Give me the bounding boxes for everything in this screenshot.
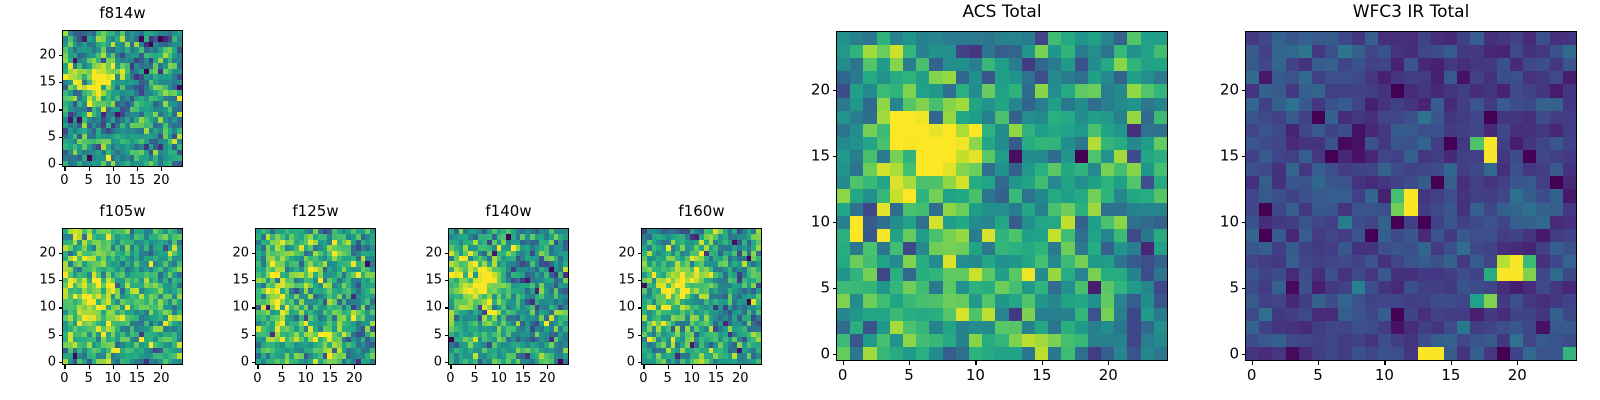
ytick-label-acs-total-20: 20	[788, 83, 830, 98]
heatmap-cell	[877, 111, 890, 124]
heatmap-cell	[863, 189, 876, 202]
xtick-label-f140w-15: 15	[515, 372, 532, 385]
heatmap-cell	[1431, 229, 1444, 242]
heatmap-cell	[1022, 321, 1035, 334]
heatmap-cell	[1075, 176, 1088, 189]
heatmap-cell	[956, 137, 969, 150]
heatmap-cell	[916, 281, 929, 294]
heatmap-cell	[1338, 255, 1351, 268]
heatmap-cell	[1088, 242, 1101, 255]
heatmap-cell	[1457, 347, 1470, 360]
heatmap-cell	[1378, 163, 1391, 176]
heatmap-cell	[1457, 98, 1470, 111]
heatmap-cell	[1536, 176, 1549, 189]
heatmap-cell	[1141, 203, 1154, 216]
xtick-mark	[257, 365, 258, 369]
heatmap-cell	[1352, 71, 1365, 84]
ytick-label-f814w-15: 15	[14, 76, 56, 89]
heatmap-cell	[1048, 32, 1061, 45]
heatmap-cell	[1127, 281, 1140, 294]
heatmap-cell	[982, 216, 995, 229]
heatmap-cell	[903, 347, 916, 360]
heatmap-cell	[1510, 45, 1523, 58]
heatmap-cell	[1035, 347, 1048, 360]
heatmap-cell	[916, 98, 929, 111]
heatmap-cell	[1061, 203, 1074, 216]
heatmap-cell	[1378, 268, 1391, 281]
heatmap-cell	[1497, 98, 1510, 111]
heatmap-cell	[1022, 242, 1035, 255]
heatmap-cell	[1075, 189, 1088, 202]
heatmap-cell	[1141, 308, 1154, 321]
heatmap-cell	[1088, 308, 1101, 321]
heatmap-cell	[1127, 229, 1140, 242]
heatmap-cell	[995, 32, 1008, 45]
heatmap-cell	[1048, 98, 1061, 111]
heatmap-cell	[1536, 58, 1549, 71]
heatmap-cell	[1444, 98, 1457, 111]
heatmap-cell	[1470, 98, 1483, 111]
heatmap-cell	[1088, 137, 1101, 150]
heatmap-cell	[943, 242, 956, 255]
heatmap-cell	[1246, 150, 1259, 163]
heatmap-cell	[1497, 229, 1510, 242]
heatmap-cell	[1536, 281, 1549, 294]
panel-wfc3-ir-total: WFC3 IR Total0510152005101520	[0, 0, 1600, 400]
heatmap-cell	[1510, 163, 1523, 176]
heatmap-cell	[1246, 124, 1259, 137]
heatmap-cell	[1048, 124, 1061, 137]
heatmap-cell	[837, 321, 850, 334]
heatmap-cell	[1536, 45, 1549, 58]
heatmap-cell	[956, 124, 969, 137]
xtick-label-acs-total-15: 15	[1032, 368, 1051, 383]
heatmap-cell	[969, 163, 982, 176]
heatmap-cell	[1457, 203, 1470, 216]
heatmap-cell	[850, 176, 863, 189]
heatmap-cell	[1484, 45, 1497, 58]
heatmap-cell	[1299, 84, 1312, 97]
heatmap-cell	[1404, 32, 1417, 45]
heatmap-cell	[1022, 45, 1035, 58]
heatmap-cell	[1338, 45, 1351, 58]
heatmap-cell	[1101, 150, 1114, 163]
heatmap-cell	[1022, 137, 1035, 150]
heatmap-cell	[1536, 203, 1549, 216]
heatmap-cell	[1075, 203, 1088, 216]
ytick-label-f105w-20: 20	[14, 246, 56, 259]
xtick-mark	[843, 361, 844, 365]
heatmap-cell	[1391, 334, 1404, 347]
heatmap-cell	[863, 268, 876, 281]
heatmap-cell	[1404, 242, 1417, 255]
heatmap-cell	[956, 163, 969, 176]
heatmap-cell	[1444, 32, 1457, 45]
heatmap-cell	[1088, 216, 1101, 229]
heatmap-cell	[1114, 242, 1127, 255]
xtick-mark	[692, 365, 693, 369]
heatmap-cell	[929, 111, 942, 124]
heatmap-image-wfc3-ir-total	[1246, 32, 1576, 360]
heatmap-cell	[1418, 163, 1431, 176]
heatmap-cell	[1101, 163, 1114, 176]
heatmap-cell	[969, 268, 982, 281]
heatmap-cell	[1444, 268, 1457, 281]
heatmap-cell	[929, 137, 942, 150]
heatmap-cell	[1484, 124, 1497, 137]
heatmap-cell	[1088, 321, 1101, 334]
xtick-mark	[306, 365, 307, 369]
heatmap-cell	[1312, 255, 1325, 268]
heatmap-cell	[982, 203, 995, 216]
heatmap-cell	[1378, 242, 1391, 255]
heatmap-cell	[177, 161, 182, 166]
heatmap-cell	[1272, 281, 1285, 294]
ytick-label-f125w-0: 0	[207, 356, 249, 369]
heatmap-cell	[995, 58, 1008, 71]
heatmap-cell	[837, 84, 850, 97]
xtick-mark	[1252, 361, 1253, 365]
heatmap-cell	[995, 163, 1008, 176]
heatmap-cell	[1338, 32, 1351, 45]
heatmap-cell	[1404, 98, 1417, 111]
panel-title-f105w: f105w	[62, 204, 183, 219]
heatmap-cell	[1009, 71, 1022, 84]
heatmap-cell	[1470, 334, 1483, 347]
heatmap-cell	[1259, 111, 1272, 124]
heatmap-cell	[1365, 255, 1378, 268]
heatmap-cell	[1088, 176, 1101, 189]
heatmap-cell	[916, 229, 929, 242]
heatmap-cell	[1286, 203, 1299, 216]
heatmap-cell	[982, 308, 995, 321]
heatmap-cell	[1009, 216, 1022, 229]
heatmap-cell	[1022, 84, 1035, 97]
heatmap-cell	[1312, 45, 1325, 58]
heatmap-cell	[877, 203, 890, 216]
ytick-label-wfc3-ir-total-5: 5	[1197, 281, 1239, 296]
heatmap-cell	[1246, 189, 1259, 202]
heatmap-cell	[1470, 150, 1483, 163]
heatmap-cell	[1391, 189, 1404, 202]
heatmap-cell	[1404, 321, 1417, 334]
heatmap-cell	[1523, 281, 1536, 294]
heatmap-cell	[1312, 281, 1325, 294]
heatmap-cell	[1563, 203, 1576, 216]
ytick-label-f105w-5: 5	[14, 328, 56, 341]
heatmap-cell	[1563, 189, 1576, 202]
heatmap-cell	[1022, 189, 1035, 202]
heatmap-axes-f160w[interactable]	[641, 228, 762, 365]
heatmap-cell	[1378, 58, 1391, 71]
heatmap-cell	[1431, 124, 1444, 137]
heatmap-cell	[956, 32, 969, 45]
heatmap-cell	[1154, 268, 1167, 281]
heatmap-cell	[956, 308, 969, 321]
heatmap-cell	[1075, 84, 1088, 97]
heatmap-cell	[1510, 111, 1523, 124]
heatmap-cell	[929, 124, 942, 137]
heatmap-cell	[1299, 189, 1312, 202]
heatmap-cell	[943, 32, 956, 45]
heatmap-cell	[1035, 321, 1048, 334]
heatmap-cell	[1431, 58, 1444, 71]
heatmap-cell	[1550, 189, 1563, 202]
heatmap-cell	[1418, 189, 1431, 202]
heatmap-cell	[1352, 32, 1365, 45]
xtick-label-acs-total-20: 20	[1099, 368, 1118, 383]
heatmap-cell	[1404, 163, 1417, 176]
heatmap-cell	[1391, 163, 1404, 176]
heatmap-cell	[850, 308, 863, 321]
heatmap-cell	[929, 268, 942, 281]
heatmap-cell	[1352, 308, 1365, 321]
xtick-mark	[89, 167, 90, 171]
heatmap-cell	[995, 203, 1008, 216]
heatmap-cell	[850, 124, 863, 137]
heatmap-cell	[903, 242, 916, 255]
heatmap-cell	[1365, 268, 1378, 281]
heatmap-cell	[956, 176, 969, 189]
heatmap-cell	[1101, 45, 1114, 58]
heatmap-cell	[1061, 150, 1074, 163]
heatmap-cell	[1497, 189, 1510, 202]
heatmap-cell	[1259, 294, 1272, 307]
panel-title-f814w: f814w	[62, 6, 183, 21]
heatmap-cell	[877, 137, 890, 150]
heatmap-cell	[995, 308, 1008, 321]
heatmap-cell	[837, 150, 850, 163]
heatmap-cell	[1391, 84, 1404, 97]
heatmap-axes-f140w[interactable]	[448, 228, 569, 365]
heatmap-cell	[1550, 124, 1563, 137]
heatmap-cell	[890, 308, 903, 321]
heatmap-cell	[1338, 216, 1351, 229]
heatmap-cell	[1484, 58, 1497, 71]
heatmap-cell	[1510, 203, 1523, 216]
heatmap-cell	[1391, 124, 1404, 137]
heatmap-cell	[903, 150, 916, 163]
heatmap-cell	[1035, 32, 1048, 45]
heatmap-cell	[877, 255, 890, 268]
heatmap-cell	[1497, 216, 1510, 229]
heatmap-cell	[1246, 176, 1259, 189]
heatmap-cell	[837, 163, 850, 176]
heatmap-cell	[1431, 255, 1444, 268]
heatmap-cell	[1246, 268, 1259, 281]
heatmap-cell	[850, 189, 863, 202]
heatmap-cell	[916, 111, 929, 124]
heatmap-cell	[1259, 321, 1272, 334]
ytick-label-f125w-5: 5	[207, 328, 249, 341]
heatmap-cell	[863, 308, 876, 321]
heatmap-cell	[1470, 189, 1483, 202]
heatmap-cell	[995, 98, 1008, 111]
heatmap-cell	[1457, 84, 1470, 97]
heatmap-cell	[1048, 216, 1061, 229]
heatmap-cell	[863, 124, 876, 137]
heatmap-cell	[1536, 150, 1549, 163]
heatmap-cell	[1061, 281, 1074, 294]
heatmap-cell	[943, 71, 956, 84]
heatmap-cell	[1378, 176, 1391, 189]
heatmap-cell	[1088, 294, 1101, 307]
heatmap-cell	[1325, 294, 1338, 307]
heatmap-cell	[1418, 216, 1431, 229]
heatmap-cell	[929, 32, 942, 45]
heatmap-cell	[1325, 229, 1338, 242]
heatmap-cell	[1550, 216, 1563, 229]
heatmap-cell	[982, 45, 995, 58]
heatmap-axes-wfc3-ir-total[interactable]	[1245, 31, 1577, 361]
heatmap-cell	[956, 321, 969, 334]
heatmap-cell	[1009, 255, 1022, 268]
heatmap-cell	[1114, 124, 1127, 137]
heatmap-cell	[903, 124, 916, 137]
heatmap-cell	[956, 334, 969, 347]
heatmap-cell	[995, 242, 1008, 255]
heatmap-cell	[1523, 334, 1536, 347]
heatmap-cell	[863, 111, 876, 124]
heatmap-cell	[943, 45, 956, 58]
heatmap-cell	[1154, 150, 1167, 163]
heatmap-cell	[903, 71, 916, 84]
heatmap-cell	[1404, 268, 1417, 281]
heatmap-cell	[1536, 255, 1549, 268]
heatmap-cell	[1114, 58, 1127, 71]
heatmap-cell	[1563, 137, 1576, 150]
heatmap-cell	[1510, 255, 1523, 268]
heatmap-cell	[1061, 32, 1074, 45]
heatmap-cell	[1457, 137, 1470, 150]
heatmap-cell	[903, 321, 916, 334]
heatmap-cell	[1365, 347, 1378, 360]
heatmap-cell	[903, 189, 916, 202]
heatmap-cell	[1114, 334, 1127, 347]
xtick-label-f105w-10: 10	[105, 372, 122, 385]
heatmap-cell	[1009, 45, 1022, 58]
heatmap-cell	[850, 242, 863, 255]
heatmap-cell	[1352, 84, 1365, 97]
heatmap-cell	[1536, 242, 1549, 255]
heatmap-cell	[1259, 216, 1272, 229]
heatmap-cell	[1141, 189, 1154, 202]
heatmap-cell	[1299, 137, 1312, 150]
heatmap-cell	[1325, 203, 1338, 216]
ytick-label-f140w-15: 15	[400, 274, 442, 287]
heatmap-cell	[903, 294, 916, 307]
heatmap-cell	[1470, 321, 1483, 334]
heatmap-cell	[1009, 124, 1022, 137]
heatmap-cell	[1431, 216, 1444, 229]
heatmap-cell	[890, 268, 903, 281]
heatmap-axes-f105w[interactable]	[62, 228, 183, 365]
heatmap-cell	[1048, 308, 1061, 321]
ytick-label-f140w-10: 10	[400, 301, 442, 314]
heatmap-cell	[890, 189, 903, 202]
heatmap-cell	[1457, 216, 1470, 229]
heatmap-cell	[1338, 242, 1351, 255]
heatmap-cell	[1418, 71, 1431, 84]
ytick-label-f814w-5: 5	[14, 130, 56, 143]
heatmap-cell	[1088, 163, 1101, 176]
heatmap-cell	[1418, 58, 1431, 71]
heatmap-cell	[1484, 281, 1497, 294]
heatmap-cell	[850, 58, 863, 71]
heatmap-cell	[1444, 71, 1457, 84]
heatmap-cell	[1365, 321, 1378, 334]
heatmap-cell	[1484, 98, 1497, 111]
heatmap-cell	[1127, 32, 1140, 45]
heatmap-cell	[1272, 137, 1285, 150]
heatmap-cell	[863, 176, 876, 189]
heatmap-cell	[1497, 347, 1510, 360]
heatmap-cell	[1391, 32, 1404, 45]
heatmap-cell	[1272, 150, 1285, 163]
heatmap-axes-f125w[interactable]	[255, 228, 376, 365]
heatmap-cell	[1484, 189, 1497, 202]
heatmap-cell	[1259, 150, 1272, 163]
xtick-label-f125w-10: 10	[298, 372, 315, 385]
heatmap-cell	[1286, 124, 1299, 137]
heatmap-cell	[1088, 124, 1101, 137]
heatmap-cell	[903, 176, 916, 189]
heatmap-cell	[1272, 32, 1285, 45]
heatmap-cell	[1101, 242, 1114, 255]
heatmap-axes-acs-total[interactable]	[836, 31, 1168, 361]
heatmap-cell	[850, 268, 863, 281]
heatmap-cell	[1325, 216, 1338, 229]
heatmap-cell	[1418, 334, 1431, 347]
heatmap-cell	[1484, 203, 1497, 216]
heatmap-cell	[1497, 255, 1510, 268]
heatmap-cell	[1338, 294, 1351, 307]
heatmap-cell	[1009, 163, 1022, 176]
heatmap-cell	[1523, 137, 1536, 150]
heatmap-cell	[1378, 203, 1391, 216]
ytick-label-f125w-10: 10	[207, 301, 249, 314]
heatmap-cell	[1365, 176, 1378, 189]
heatmap-cell	[1391, 203, 1404, 216]
heatmap-cell	[1404, 189, 1417, 202]
heatmap-cell	[1352, 321, 1365, 334]
heatmap-cell	[1352, 137, 1365, 150]
heatmap-cell	[1101, 281, 1114, 294]
heatmap-cell	[837, 281, 850, 294]
heatmap-cell	[1022, 294, 1035, 307]
heatmap-cell	[929, 308, 942, 321]
heatmap-cell	[982, 255, 995, 268]
heatmap-image-f140w	[449, 229, 568, 364]
heatmap-cell	[1444, 58, 1457, 71]
heatmap-cell	[1101, 32, 1114, 45]
ytick-label-f160w-5: 5	[593, 328, 635, 341]
heatmap-cell	[916, 84, 929, 97]
ytick-label-f814w-10: 10	[14, 103, 56, 116]
heatmap-cell	[850, 163, 863, 176]
heatmap-cell	[1075, 150, 1088, 163]
heatmap-cell	[890, 71, 903, 84]
heatmap-cell	[1536, 294, 1549, 307]
heatmap-cell	[1457, 294, 1470, 307]
heatmap-cell	[890, 45, 903, 58]
heatmap-cell	[995, 255, 1008, 268]
heatmap-cell	[837, 98, 850, 111]
heatmap-cell	[1009, 189, 1022, 202]
heatmap-cell	[1352, 242, 1365, 255]
heatmap-axes-f814w[interactable]	[62, 30, 183, 167]
heatmap-cell	[1338, 268, 1351, 281]
